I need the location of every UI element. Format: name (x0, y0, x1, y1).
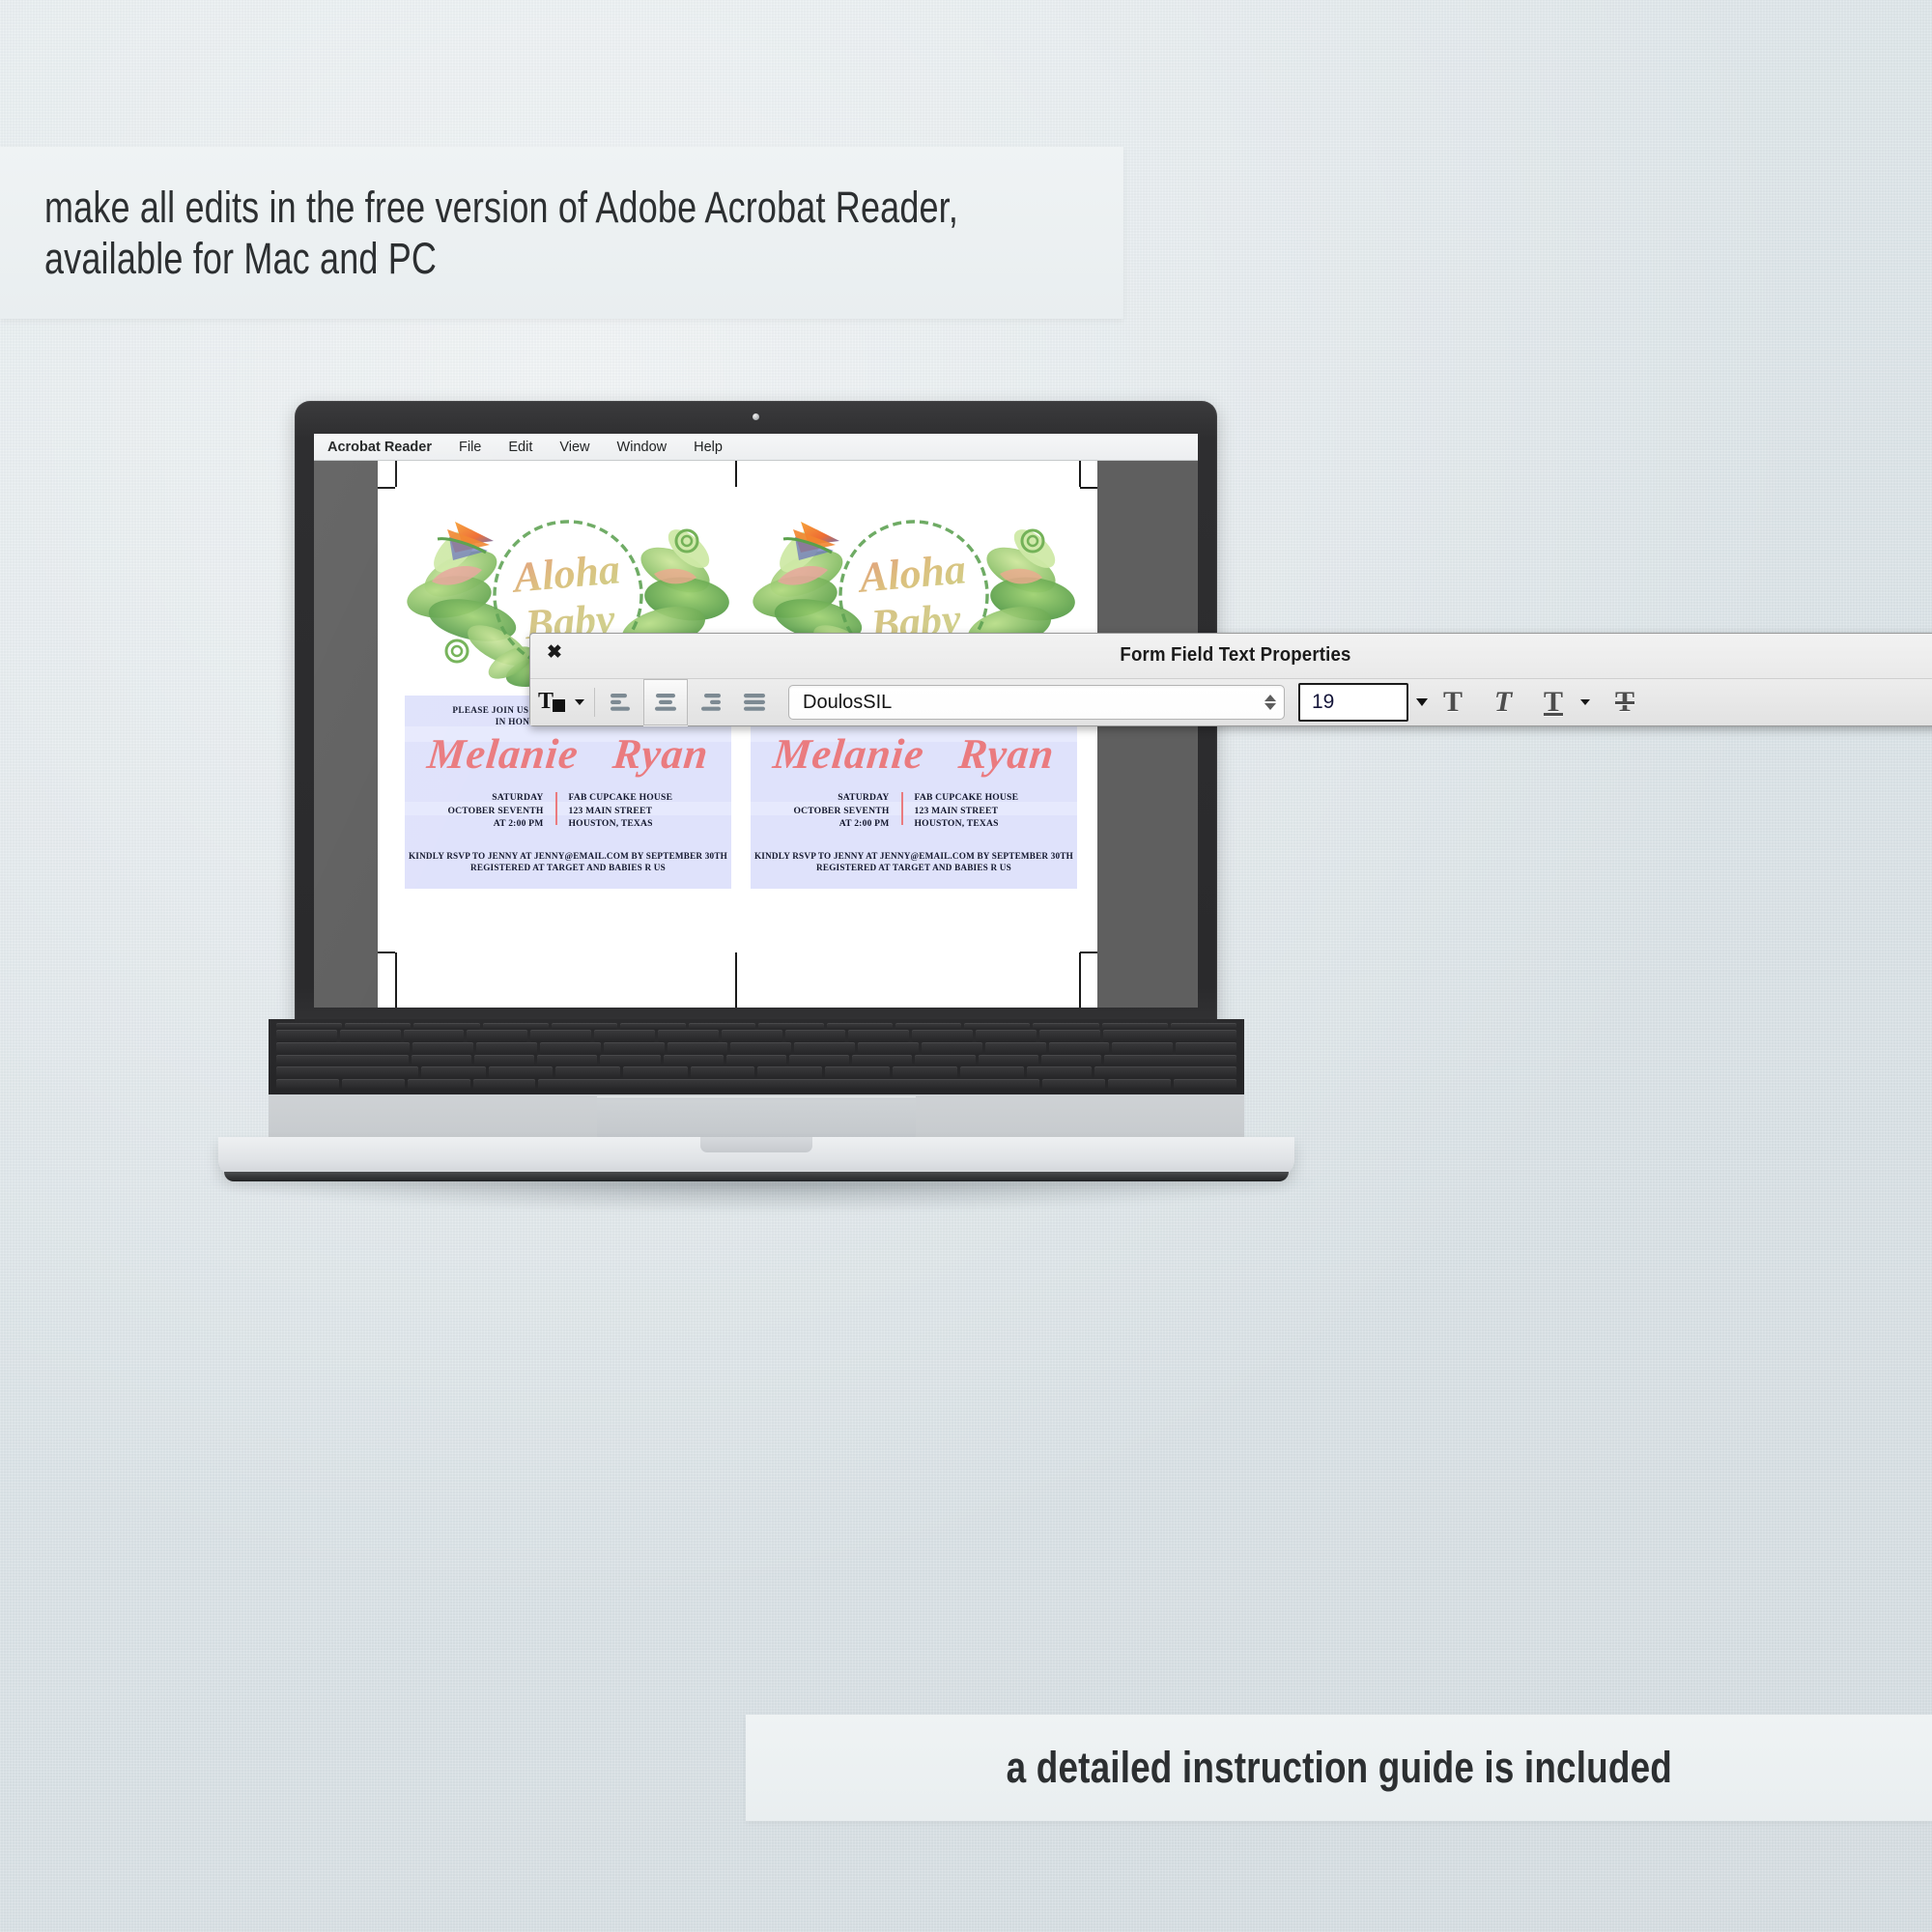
crop-mark-tl-v (395, 460, 397, 487)
caption-bottom-line1: a detailed instruction guide is included (1006, 1744, 1671, 1792)
svg-text:T: T (538, 689, 554, 714)
keyboard[interactable] (269, 1019, 1244, 1094)
mac-menu-bar[interactable]: Acrobat Reader File Edit View Window Hel… (314, 434, 1198, 461)
dialog-title-bar: ✖ Form Field Text Properties (530, 634, 1932, 678)
caption-top-line2: available for Mac and PC (44, 233, 908, 284)
invite-where-line2: 123 MAIN STREET (915, 805, 1050, 817)
crop-mark-tr-h (1080, 487, 1097, 489)
keyboard-row-shift (276, 1066, 1236, 1079)
keyboard-row-number (276, 1030, 1236, 1042)
font-size-value: 19 (1312, 691, 1334, 714)
caption-top: make all edits in the free version of Ad… (0, 147, 1123, 319)
invite-name-last: Ryan (956, 730, 1057, 778)
invite-when: SATURDAY OCTOBER SEVENTH AT 2:00 PM (779, 791, 901, 830)
invite-when-line1: SATURDAY (779, 791, 890, 804)
wreath-title-line1: Aloha (509, 545, 622, 602)
invite-when-line3: AT 2:00 PM (433, 817, 544, 830)
invite-when-line2: OCTOBER SEVENTH (779, 805, 890, 817)
crop-mark-bl-v (395, 952, 397, 1008)
invite-rsvp: KINDLY RSVP TO JENNY AT JENNY@EMAIL.COM … (405, 850, 731, 874)
align-left-icon (609, 692, 634, 713)
align-center-button[interactable] (643, 679, 688, 725)
invite-names: Melanie Ryan (403, 733, 734, 776)
invite-details: SATURDAY OCTOBER SEVENTH AT 2:00 PM FAB … (405, 791, 731, 830)
form-field-text-properties-dialog[interactable]: ✖ Form Field Text Properties T (529, 633, 1932, 726)
font-size-dropdown-icon[interactable] (1416, 698, 1428, 706)
pdf-page[interactable]: Aloha Baby PLEASE JOIN US FOR A TROPICAL… (378, 460, 1097, 1008)
keyboard-row-home (276, 1055, 1236, 1067)
lid-open-notch (700, 1137, 812, 1152)
invite-name-first: Melanie (425, 730, 581, 778)
stepper-icon[interactable] (1264, 695, 1276, 710)
crop-mark-tr-v (1079, 460, 1081, 487)
toolbar-separator (594, 688, 595, 717)
caption-bottom: a detailed instruction guide is included (746, 1715, 1932, 1821)
laptop-shadow (203, 1179, 1314, 1212)
invite-where-line3: HOUSTON, TEXAS (569, 817, 704, 830)
align-right-icon (697, 692, 723, 713)
menu-item-edit[interactable]: Edit (508, 440, 532, 455)
invite-rsvp-line1: KINDLY RSVP TO JENNY AT JENNY@EMAIL.COM … (405, 850, 731, 862)
laptop-base (135, 1019, 1391, 1222)
font-family-value: DoulosSIL (803, 692, 892, 714)
invite-rsvp-line2: REGISTERED AT TARGET AND BABIES R US (405, 862, 731, 873)
invite-when-line3: AT 2:00 PM (779, 817, 890, 830)
invite-names: Melanie Ryan (749, 733, 1080, 776)
text-tool-icon: T (538, 688, 571, 717)
invite-name-first: Melanie (771, 730, 926, 778)
chevron-down-icon[interactable] (575, 699, 584, 705)
bold-button[interactable]: T (1428, 681, 1478, 724)
caption-top-line1: make all edits in the free version of Ad… (44, 182, 908, 233)
font-family-select[interactable]: DoulosSIL (788, 685, 1285, 720)
crop-mark-bl-h (378, 952, 395, 953)
document-workspace[interactable]: Aloha Baby PLEASE JOIN US FOR A TROPICAL… (314, 460, 1198, 1008)
invite-when-line1: SATURDAY (433, 791, 544, 804)
align-justify-button[interactable] (732, 682, 777, 723)
webcam-icon (753, 413, 759, 420)
invite-when: SATURDAY OCTOBER SEVENTH AT 2:00 PM (433, 791, 555, 830)
close-icon[interactable]: ✖ (546, 644, 563, 662)
laptop-palmrest (218, 1137, 1294, 1176)
crop-mark-br-h (1080, 952, 1097, 953)
laptop-deck (269, 1019, 1244, 1143)
italic-button[interactable]: T (1478, 681, 1528, 724)
dialog-title: Form Field Text Properties (580, 644, 1891, 667)
strikethrough-button[interactable]: T (1600, 681, 1650, 724)
invite-where: FAB CUPCAKE HOUSE 123 MAIN STREET HOUSTO… (557, 791, 704, 830)
crop-mark-mid-v (735, 460, 737, 487)
invite-where-line1: FAB CUPCAKE HOUSE (915, 791, 1050, 804)
menu-item-window[interactable]: Window (617, 440, 668, 455)
align-justify-icon (742, 692, 767, 713)
invite-name-last: Ryan (611, 730, 711, 778)
align-right-button[interactable] (688, 682, 732, 723)
menu-item-acrobat-reader[interactable]: Acrobat Reader (327, 440, 432, 455)
text-tool-button[interactable]: T (538, 688, 584, 717)
align-left-button[interactable] (599, 682, 643, 723)
invite-where: FAB CUPCAKE HOUSE 123 MAIN STREET HOUSTO… (903, 791, 1050, 830)
menu-item-view[interactable]: View (559, 440, 589, 455)
wreath-title-line1: Aloha (855, 545, 968, 602)
invite-where-line1: FAB CUPCAKE HOUSE (569, 791, 704, 804)
crop-mark-tl-h (378, 487, 395, 489)
invite-rsvp-line2: REGISTERED AT TARGET AND BABIES R US (751, 862, 1077, 873)
invite-rsvp-line1: KINDLY RSVP TO JENNY AT JENNY@EMAIL.COM … (751, 850, 1077, 862)
align-center-icon (653, 692, 678, 713)
crop-mark-bmid-v (735, 952, 737, 1008)
font-size-input[interactable]: 19 (1298, 683, 1408, 722)
invite-details: SATURDAY OCTOBER SEVENTH AT 2:00 PM FAB … (751, 791, 1077, 830)
invite-where-line3: HOUSTON, TEXAS (915, 817, 1050, 830)
crop-mark-br-v (1079, 952, 1081, 1008)
keyboard-row-qwerty (276, 1042, 1236, 1055)
invite-rsvp: KINDLY RSVP TO JENNY AT JENNY@EMAIL.COM … (751, 850, 1077, 874)
menu-item-file[interactable]: File (459, 440, 481, 455)
underline-dropdown-icon[interactable] (1580, 699, 1590, 705)
keyboard-row-function (276, 1023, 1236, 1030)
keyboard-row-space (276, 1079, 1236, 1090)
laptop-mockup: Acrobat Reader File Edit View Window Hel… (135, 401, 1391, 1222)
menu-item-help[interactable]: Help (694, 440, 723, 455)
invite-where-line2: 123 MAIN STREET (569, 805, 704, 817)
invite-when-line2: OCTOBER SEVENTH (433, 805, 544, 817)
underline-button[interactable]: T (1528, 681, 1578, 724)
text-properties-toolbar[interactable]: T (530, 678, 1932, 725)
